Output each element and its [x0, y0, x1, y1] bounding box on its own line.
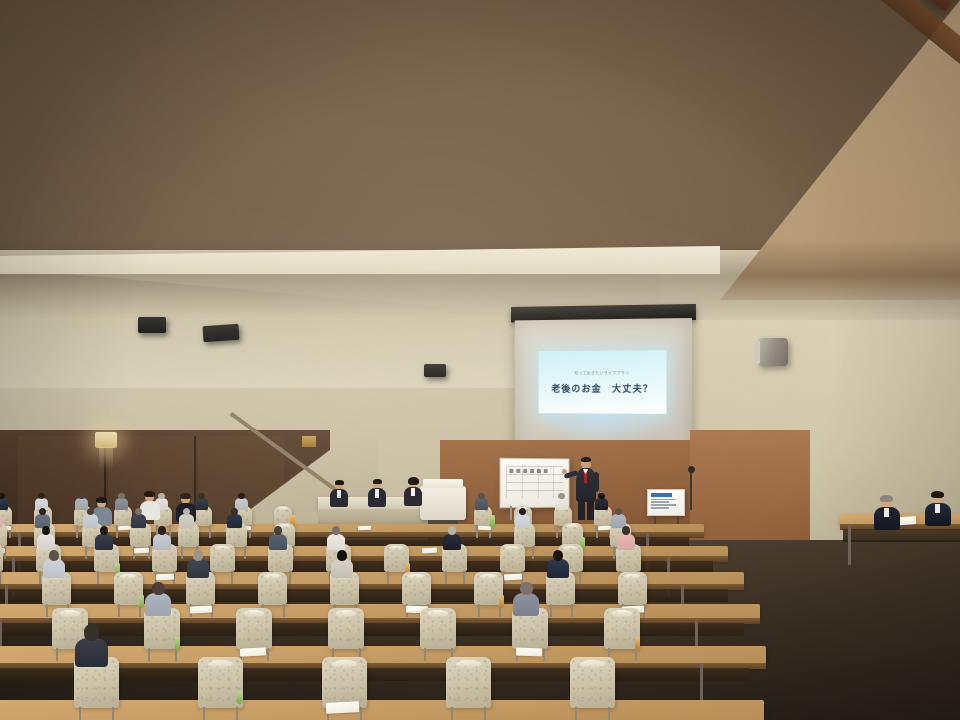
chair-handle — [278, 507, 288, 510]
audience-member — [515, 508, 530, 528]
audience-member — [37, 526, 55, 549]
ceiling-speaker-left-1-icon — [138, 317, 166, 333]
handout-paper[interactable] — [326, 701, 360, 713]
conference-chair[interactable] — [0, 544, 3, 572]
audience-torso — [179, 514, 194, 527]
stage-right-wood-panel — [690, 430, 810, 540]
chair-handle — [624, 574, 640, 579]
audience-torso — [227, 514, 242, 527]
handout-paper[interactable] — [134, 548, 150, 554]
chair-handle — [612, 610, 632, 617]
sign-header-bar — [651, 493, 672, 497]
event-sign — [647, 489, 685, 516]
audience-head — [558, 493, 564, 500]
audience-head — [553, 550, 563, 561]
chair-handle — [580, 660, 605, 668]
audience-member — [555, 493, 568, 510]
screen-surface: 知っておきたいライフプラン 老後のお金 大丈夫？ ファイナンシャルプランナー — [515, 318, 692, 456]
audience-member — [95, 526, 113, 549]
chair-handle — [389, 546, 403, 550]
conference-chair[interactable] — [236, 608, 272, 649]
audience-member — [227, 508, 242, 528]
projection-screen: 知っておきたいライフプラン 老後のお金 大丈夫？ ファイナンシャルプランナー — [515, 318, 692, 456]
audience-head — [49, 550, 59, 561]
audience-torso — [269, 534, 287, 550]
audience-head — [520, 582, 533, 595]
seminar-hall-photo: 知っておきたいライフプラン 老後のお金 大丈夫？ ファイナンシャルプランナー — [0, 0, 960, 720]
conference-chair[interactable] — [402, 572, 431, 605]
wall-plaque-icon — [302, 436, 316, 447]
audience-member — [269, 526, 287, 549]
drink-bottle[interactable] — [175, 637, 180, 650]
audience-member — [145, 582, 171, 616]
presenter-hand — [562, 469, 567, 474]
staff-member-3 — [404, 478, 422, 506]
chair-handle — [428, 610, 448, 617]
microphone-stand — [690, 470, 692, 510]
conference-chair[interactable] — [420, 608, 456, 649]
presentation-slide: 知っておきたいライフプラン 老後のお金 大丈夫？ — [539, 350, 667, 414]
audience-member — [35, 508, 50, 528]
audience-torso — [555, 498, 568, 510]
slide-title: 老後のお金 大丈夫？ — [551, 381, 653, 395]
audience-torso — [547, 559, 569, 578]
ceiling-speaker-left-3-icon — [424, 364, 446, 377]
audience-head — [84, 624, 100, 641]
audience-torso — [617, 534, 635, 550]
chair-handle — [567, 524, 579, 528]
audience-head — [598, 493, 604, 500]
audience-member — [475, 493, 488, 510]
conference-chair[interactable] — [570, 657, 615, 708]
audience-head — [478, 493, 484, 500]
conference-chair[interactable] — [328, 608, 364, 649]
equipment-cart — [420, 486, 466, 520]
audience-member — [331, 550, 353, 578]
audience-torso — [131, 514, 146, 527]
audience-torso — [475, 498, 488, 510]
conference-chair[interactable] — [618, 572, 647, 605]
chair-handle — [505, 546, 519, 550]
conference-chair[interactable] — [500, 544, 525, 572]
audience-head — [198, 493, 204, 500]
chair-handle — [336, 610, 356, 617]
audience-member — [611, 508, 626, 528]
audience-torso — [187, 559, 209, 578]
audience-torso — [37, 534, 55, 550]
audience-member — [443, 526, 461, 549]
chair-handle — [215, 546, 229, 550]
audience-member — [195, 493, 208, 510]
conference-chair[interactable] — [446, 657, 491, 708]
drink-bottle[interactable] — [237, 691, 242, 704]
audience-member — [327, 526, 345, 549]
audience-member — [513, 582, 539, 616]
audience-torso — [0, 514, 2, 527]
audience-member — [153, 526, 171, 549]
audience-torso — [513, 593, 539, 616]
chair-handle — [208, 660, 233, 668]
audience-member — [43, 550, 65, 578]
seminar-table — [0, 604, 760, 619]
drink-bottle[interactable] — [499, 595, 504, 608]
drink-bottle[interactable] — [139, 595, 144, 608]
audience-head — [38, 493, 44, 500]
audience-torso — [153, 534, 171, 550]
drink-bottle[interactable] — [490, 515, 495, 528]
wall-sconce-icon — [95, 432, 117, 448]
guest-1 — [874, 496, 900, 530]
guest-2 — [925, 492, 951, 526]
presenter-leg-right — [587, 500, 594, 520]
chair-handle — [332, 660, 357, 668]
conference-chair[interactable] — [258, 572, 287, 605]
staff-member-2 — [368, 480, 386, 507]
chair-handle — [480, 574, 496, 579]
audience-torso — [115, 498, 128, 510]
handout-paper[interactable] — [516, 648, 543, 657]
chair-handle — [60, 610, 80, 617]
chair-handle — [244, 610, 264, 617]
handout-paper[interactable] — [422, 548, 438, 554]
audience-head — [78, 493, 84, 500]
whiteboard-handwriting — [509, 469, 548, 473]
chair-handle — [408, 574, 424, 579]
audience-head — [238, 493, 244, 500]
audience-member — [595, 493, 608, 510]
audience-member — [115, 493, 128, 510]
audience-member — [0, 508, 2, 528]
staff-member-1 — [330, 481, 348, 507]
audience-head — [152, 582, 165, 595]
chair-handle — [120, 574, 136, 579]
audience-head — [118, 493, 124, 500]
audience-member — [617, 526, 635, 549]
presenter-hair — [581, 457, 591, 462]
audience-torso — [443, 534, 461, 550]
presenter-leg-left — [578, 500, 585, 520]
drink-bottle[interactable] — [635, 637, 640, 650]
audience-member — [75, 624, 108, 667]
handout-paper[interactable] — [504, 574, 522, 581]
audience-torso — [331, 559, 353, 578]
audience-torso — [95, 534, 113, 550]
slide-subtitle: 知っておきたいライフプラン — [574, 370, 629, 376]
audience-member — [179, 508, 194, 528]
audience-head — [337, 550, 347, 561]
audience-torso — [43, 559, 65, 578]
handout-paper[interactable] — [190, 605, 212, 613]
audience-torso — [327, 534, 345, 550]
audience-torso — [195, 498, 208, 510]
presenter-arm — [593, 472, 599, 492]
wall-speaker-right-icon — [758, 338, 788, 366]
audience-head — [193, 550, 203, 561]
audience-member — [131, 508, 146, 528]
audience-member — [83, 508, 98, 528]
audience-member — [187, 550, 209, 578]
audience-torso — [75, 638, 108, 667]
chair-handle — [264, 574, 280, 579]
ceiling-speaker-left-2-icon — [202, 324, 239, 342]
audience-torso — [515, 514, 530, 527]
chair-handle — [456, 660, 481, 668]
conference-chair[interactable] — [322, 657, 367, 708]
audience-torso — [595, 498, 608, 510]
conference-chair[interactable] — [210, 544, 235, 572]
audience-member — [547, 550, 569, 578]
audience-torso — [145, 593, 171, 616]
handout-paper[interactable] — [156, 574, 174, 581]
